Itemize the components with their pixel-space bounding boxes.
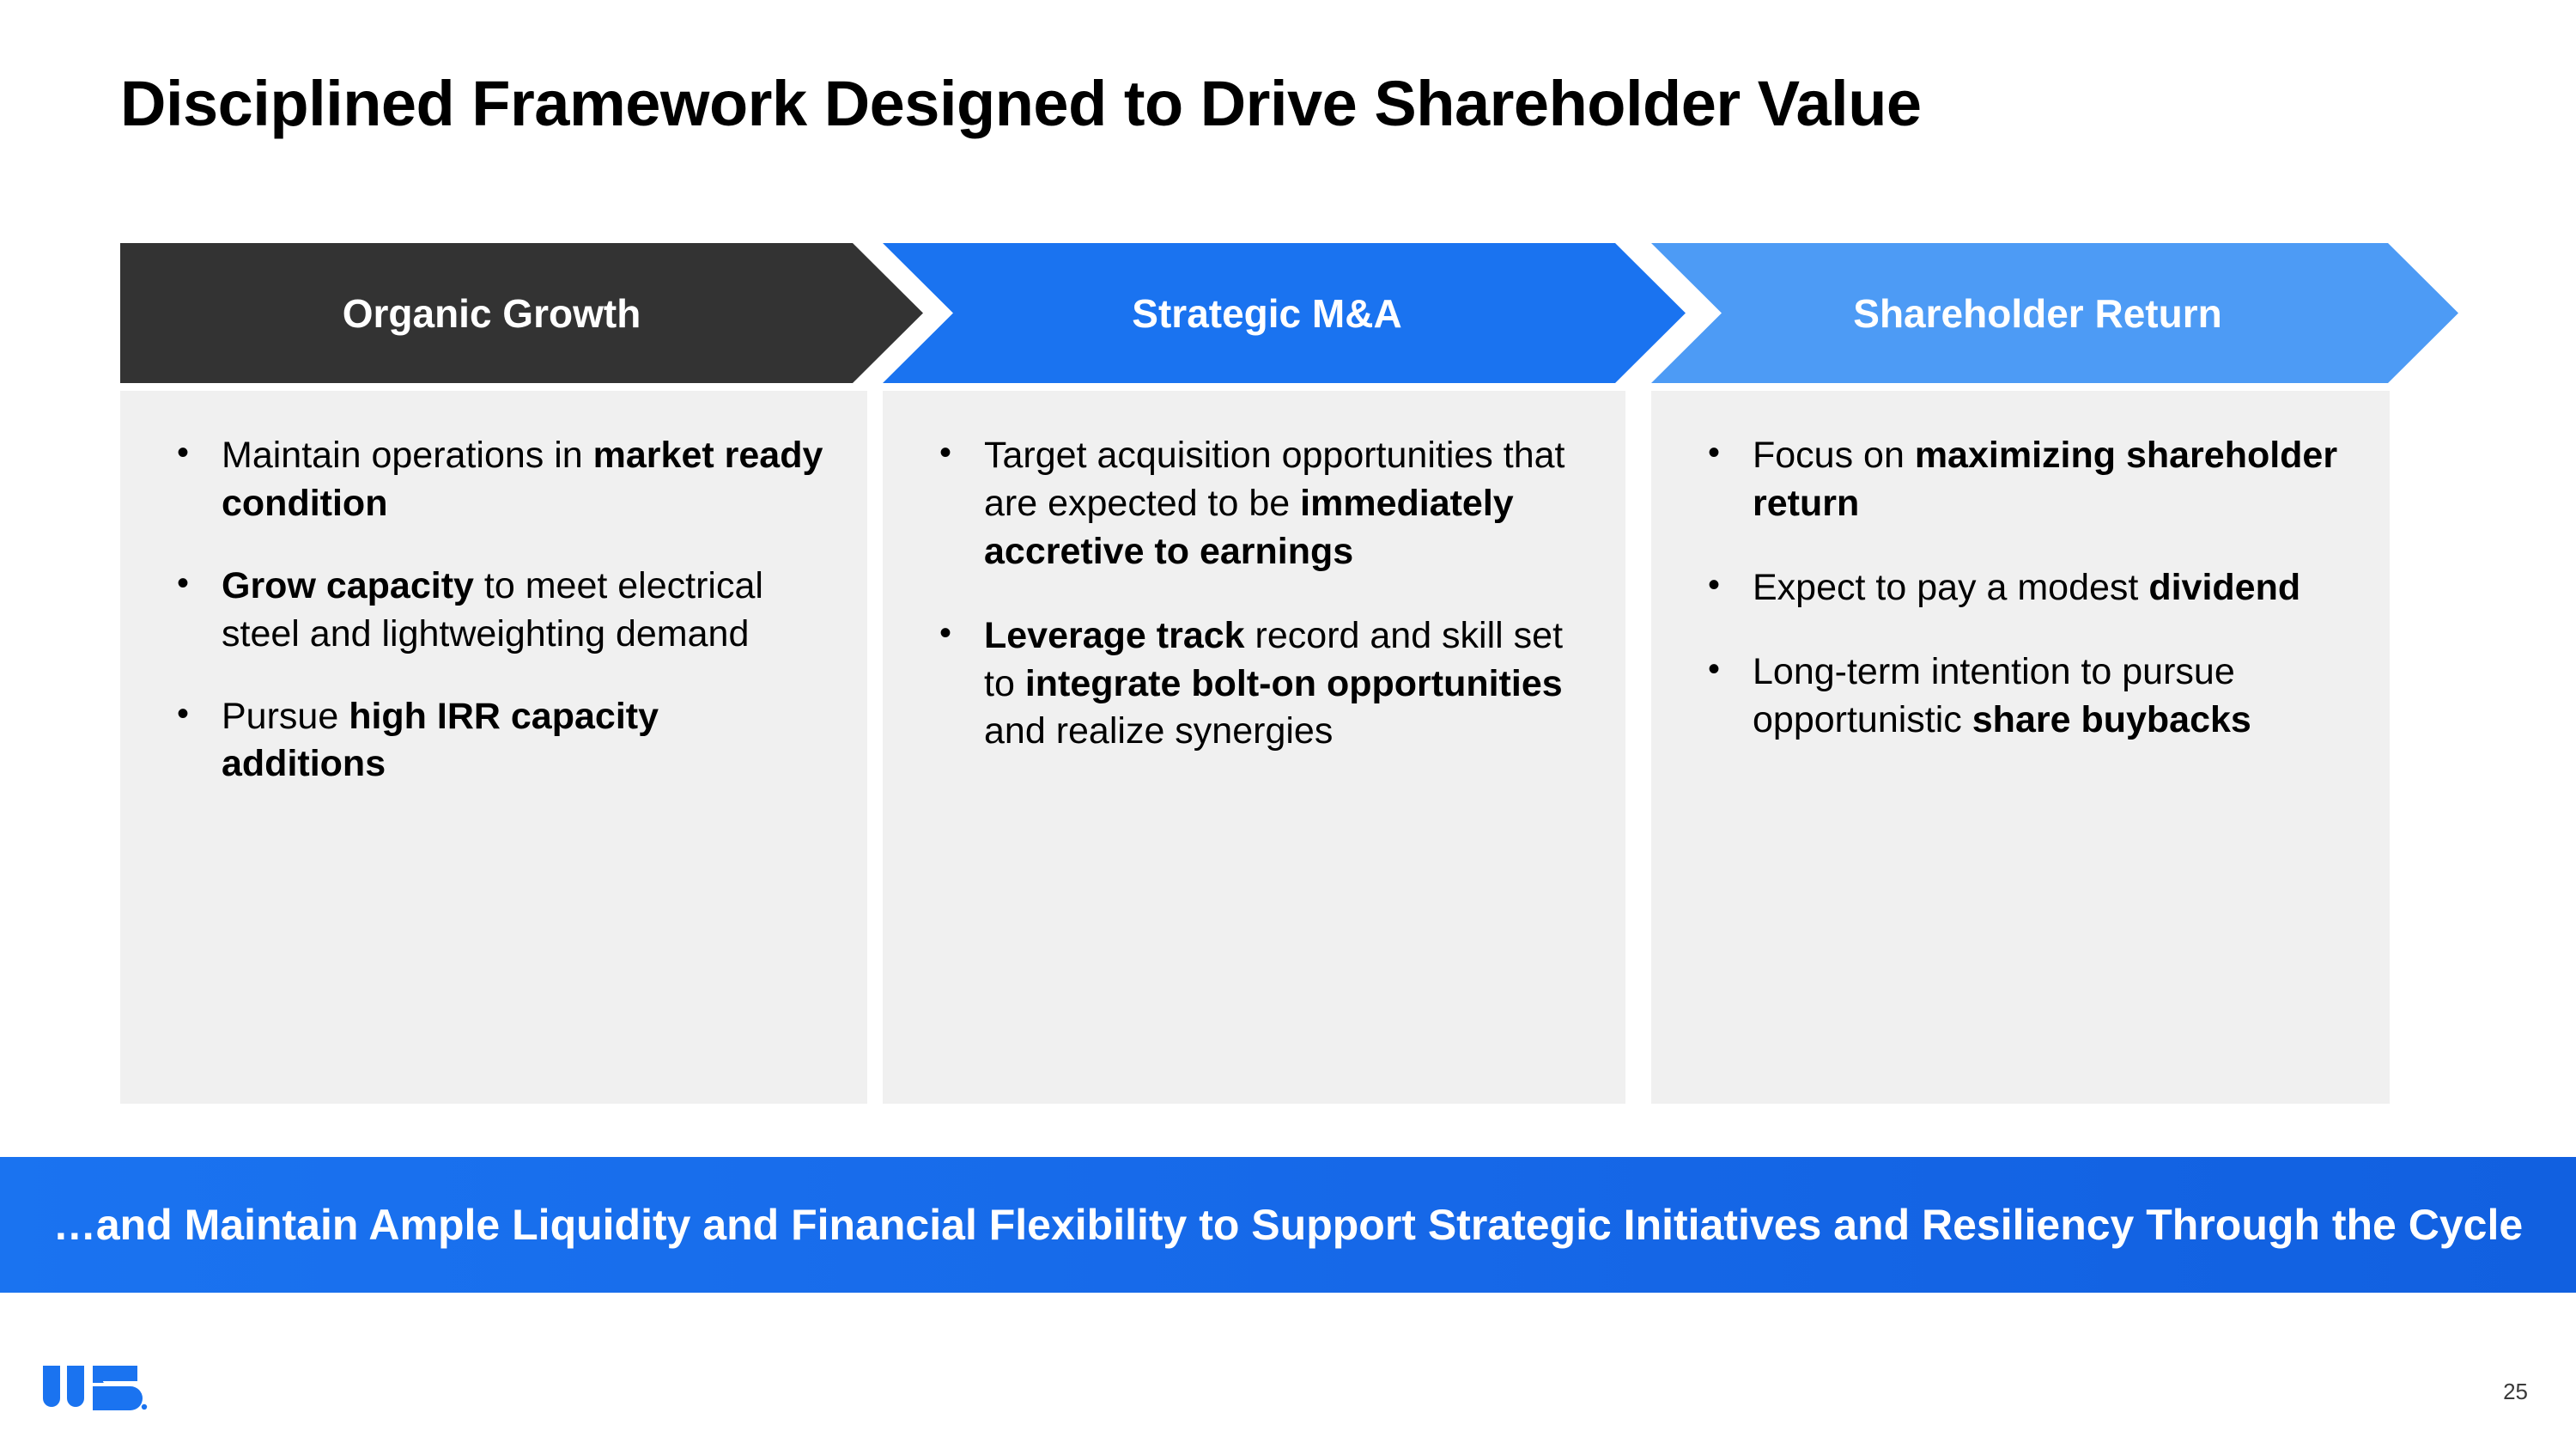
bullet-text: Focus on	[1753, 435, 1915, 476]
bullet-item: Pursue high IRR capacity additions	[155, 693, 833, 789]
bullet-item: Leverage track record and skill set to i…	[917, 612, 1591, 757]
bullet-item: Expect to pay a modest dividend	[1686, 564, 2355, 612]
bullet-item: Maintain operations in market ready cond…	[155, 432, 833, 528]
bullet-text: and realize synergies	[984, 710, 1333, 752]
bullet-text: Expect to pay a modest	[1753, 567, 2148, 608]
pillar-header-strategic-ma: Strategic M&A	[883, 243, 1686, 383]
bullet-item: Target acquisition opportunities that ar…	[917, 432, 1591, 576]
bullet-emphasis: Grow capacity	[222, 565, 474, 606]
pillar-chevron-row: Organic Growth Strategic M&A Shareholder…	[0, 243, 2576, 383]
us-steel-logo	[41, 1364, 155, 1417]
bullet-item: Grow capacity to meet electrical steel a…	[155, 563, 833, 659]
bullet-item: Long-term intention to pursue opportunis…	[1686, 648, 2355, 745]
pillar-panel-organic-growth: Maintain operations in market ready cond…	[120, 391, 867, 1104]
page-number: 25	[2503, 1379, 2528, 1405]
pillar-panel-shareholder-return: Focus on maximizing shareholder returnEx…	[1651, 391, 2390, 1104]
bullet-list: Target acquisition opportunities that ar…	[917, 432, 1591, 756]
bullet-emphasis: dividend	[2148, 567, 2300, 608]
pillar-header-organic-growth: Organic Growth	[120, 243, 923, 383]
summary-banner-text: …and Maintain Ample Liquidity and Financ…	[53, 1197, 2523, 1253]
page-title: Disciplined Framework Designed to Drive …	[120, 67, 1922, 140]
bullet-text: Pursue	[222, 696, 349, 737]
bullet-emphasis: share buybacks	[1972, 699, 2251, 740]
bullet-emphasis: integrate bolt-on opportunities	[1025, 663, 1563, 704]
bullet-list: Focus on maximizing shareholder returnEx…	[1686, 432, 2355, 744]
pillar-header-shareholder-return: Shareholder Return	[1651, 243, 2458, 383]
bullet-text: Maintain operations in	[222, 435, 593, 476]
summary-banner: …and Maintain Ample Liquidity and Financ…	[0, 1157, 2576, 1293]
bullet-list: Maintain operations in market ready cond…	[155, 432, 833, 788]
bullet-emphasis: Leverage track	[984, 615, 1245, 656]
pillar-header-label: Strategic M&A	[1132, 290, 1401, 337]
pillar-panel-strategic-ma: Target acquisition opportunities that ar…	[883, 391, 1625, 1104]
pillar-header-label: Shareholder Return	[1853, 290, 2221, 337]
bullet-item: Focus on maximizing shareholder return	[1686, 432, 2355, 528]
pillar-header-label: Organic Growth	[343, 290, 641, 337]
